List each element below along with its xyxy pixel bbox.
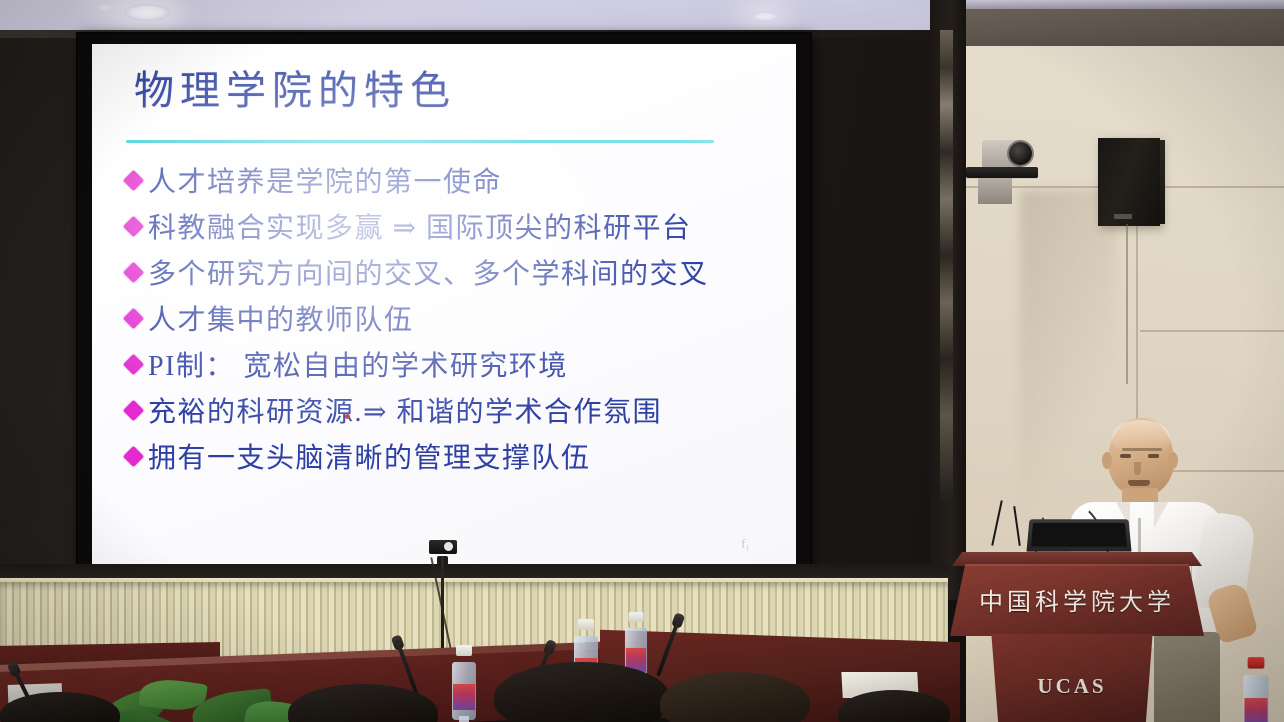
bullet-text: 拥有一支头脑清晰的管理支撑队伍	[148, 436, 591, 482]
bullet-item: 人才集中的教师队伍	[126, 298, 786, 344]
wall-seam	[1140, 330, 1284, 332]
presenter-ear	[1168, 452, 1178, 469]
title-underline	[126, 140, 714, 143]
column-metal-trim	[940, 30, 953, 500]
bullet-item: 人才培养是学院的第一使命	[126, 160, 786, 206]
diamond-bullet-icon	[123, 400, 144, 421]
camera-sensor-bar	[966, 167, 1038, 178]
presenter-brow	[1122, 448, 1162, 451]
ceiling-downlight	[124, 4, 170, 21]
diamond-bullet-icon	[123, 446, 144, 467]
bullet-text: 充裕的科研资源.⇒ 和谐的学术合作氛围	[148, 390, 662, 436]
presenter-nose	[1134, 462, 1141, 475]
bullet-text: 多个研究方向间的交叉、多个学科间的交叉	[148, 252, 709, 298]
water-bottle	[452, 646, 476, 720]
presenter-mouth	[1128, 480, 1150, 486]
bullet-item: PI制： 宽松自由的学术研究环境	[126, 344, 786, 390]
laptop	[1026, 519, 1131, 551]
presenter-ear	[1102, 452, 1112, 469]
bottle-neck	[459, 716, 469, 722]
bottle-cap	[578, 619, 594, 630]
bullet-text: PI制： 宽松自由的学术研究环境	[148, 344, 568, 390]
bullet-item: 科教融合实现多赢 ⇒ 国际顶尖的科研平台	[126, 206, 786, 252]
presenter-eye	[1148, 454, 1159, 458]
podium-label-chinese: 中国科学院大学	[952, 582, 1202, 617]
slide-bullet-list: 人才培养是学院的第一使命 科教融合实现多赢 ⇒ 国际顶尖的科研平台 多个研究方向…	[126, 160, 786, 482]
speaker-logo	[1114, 214, 1132, 219]
podium-top-surface	[952, 552, 1202, 566]
bullet-item: 多个研究方向间的交叉、多个学科间的交叉	[126, 252, 786, 298]
shirt-collar-right	[1154, 502, 1168, 528]
presentation-slide: 物理学院的特色 人才培养是学院的第一使命 科教融合实现多赢 ⇒ 国际顶尖的科研平…	[92, 44, 796, 568]
diamond-bullet-icon	[123, 262, 144, 283]
ceiling-downlight-tertiary	[752, 12, 778, 21]
diamond-bullet-icon	[123, 216, 144, 237]
bottle-cap	[629, 612, 644, 622]
slide-title: 物理学院的特色	[134, 70, 456, 112]
camera-wall-mount	[978, 178, 1012, 204]
diamond-bullet-icon	[123, 308, 144, 329]
camera-head	[982, 140, 1022, 168]
bottle-label	[1244, 698, 1267, 722]
lecture-hall-scene: 物理学院的特色 人才培养是学院的第一使命 科教融合实现多赢 ⇒ 国际顶尖的科研平…	[0, 0, 1284, 722]
diamond-bullet-icon	[123, 170, 144, 191]
bullet-text: 科教融合实现多赢 ⇒ 国际顶尖的科研平台	[148, 206, 691, 252]
slide-corner-mark: f₁	[741, 536, 750, 552]
tripod-camera-body	[429, 540, 457, 554]
wall-header-band	[966, 8, 1284, 50]
projection-screen-frame: 物理学院的特色 人才培养是学院的第一使命 科教融合实现多赢 ⇒ 国际顶尖的科研平…	[78, 34, 810, 572]
wall-speaker-icon	[1098, 138, 1160, 226]
video-conference-camera-icon	[964, 140, 1040, 212]
presenter-eye	[1120, 454, 1131, 458]
tripod-camera-lens-icon	[444, 542, 453, 551]
bottle-cap	[456, 645, 472, 656]
bottle-label	[453, 684, 475, 710]
potted-plant	[96, 668, 316, 722]
speaker-cable	[1126, 224, 1128, 384]
ceiling-downlight-secondary	[96, 3, 114, 12]
diamond-bullet-icon	[123, 354, 144, 375]
bullet-text: 人才集中的教师队伍	[148, 298, 414, 344]
bullet-item: 拥有一支头脑清晰的管理支撑队伍	[126, 436, 786, 482]
bullet-item: 充裕的科研资源.⇒ 和谐的学术合作氛围	[126, 390, 786, 436]
bullet-text: 人才培养是学院的第一使命	[148, 160, 502, 206]
podium: 中国科学院大学 UCAS	[952, 552, 1202, 722]
podium-label-english: UCAS	[988, 674, 1156, 699]
bottle-cap	[1248, 657, 1265, 669]
water-bottle	[1243, 658, 1268, 722]
camera-lens-icon	[1009, 142, 1032, 165]
red-dot-annotation	[345, 414, 350, 419]
